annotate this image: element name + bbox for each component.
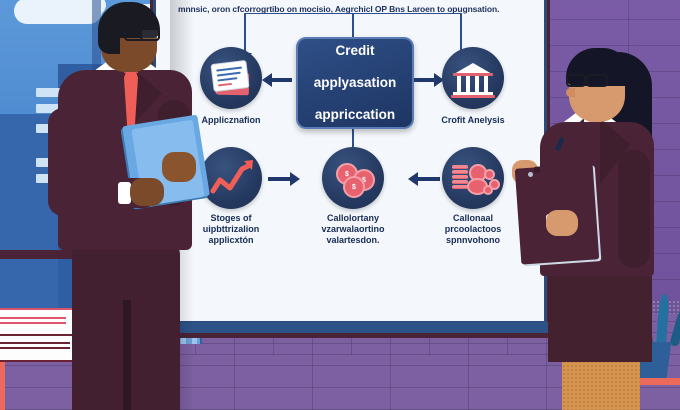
documents-icon xyxy=(213,63,247,89)
man-hand-right xyxy=(162,152,196,182)
center-node-line3: appriccation xyxy=(314,107,397,123)
bank-building-icon xyxy=(453,63,493,93)
glasses-icon xyxy=(140,28,160,41)
arrow-stem xyxy=(268,177,290,181)
connector-center-top xyxy=(352,13,354,37)
center-node-line1: Credit xyxy=(314,43,397,59)
arrow-stem xyxy=(414,78,434,82)
node-label-collateral-provisions: Callonaal prcoolactoos spnnvohono xyxy=(414,213,532,246)
illustration-scene: Loooo onignins cloekin ot osito cirtsin … xyxy=(0,0,680,410)
node-label-collateral-valuation: Callolortany vzarwalaortino valartesdon. xyxy=(294,213,412,246)
man-hair-side xyxy=(98,24,120,54)
man-hand-left xyxy=(130,178,164,206)
node-label-credit-analysis: Crofit Anelysis xyxy=(414,115,532,126)
cloud-icon xyxy=(14,0,102,24)
center-node-credit-application[interactable]: Credit applyasation appriccation xyxy=(296,37,414,129)
arrow-stem xyxy=(418,177,440,181)
coin-stack-icon xyxy=(451,161,497,195)
arrow-right-icon xyxy=(290,172,300,186)
whiteboard-heading: Loooo onignins cloekin ot osito cirtsin … xyxy=(178,0,530,17)
man-leg-split xyxy=(123,300,131,410)
arrow-left-icon xyxy=(262,73,272,87)
node-application[interactable] xyxy=(200,47,262,109)
trend-line-chart-icon xyxy=(200,147,262,209)
node-stages[interactable] xyxy=(200,147,262,209)
glasses-icon xyxy=(566,74,586,87)
woman-nose xyxy=(566,88,575,97)
arrow-stem xyxy=(272,78,292,82)
center-node-line2: applyasation xyxy=(314,75,397,91)
arrow-left-icon xyxy=(408,172,418,186)
woman-hand-left xyxy=(546,210,578,236)
whiteboard[interactable]: Loooo onignins cloekin ot osito cirtsin … xyxy=(153,0,547,324)
node-collateral-provisions[interactable] xyxy=(442,147,504,209)
glasses-icon xyxy=(586,74,608,87)
coins-icon: $ $ $ xyxy=(334,161,374,195)
woman-legs-texture xyxy=(562,356,640,410)
woman-arm-right xyxy=(618,150,650,268)
node-collateral-valuation[interactable]: $ $ $ xyxy=(322,147,384,209)
clipboard-hole xyxy=(528,172,533,177)
whiteboard-tray xyxy=(150,322,550,333)
woman-skirt xyxy=(548,270,652,362)
node-credit-analysis[interactable] xyxy=(442,47,504,109)
